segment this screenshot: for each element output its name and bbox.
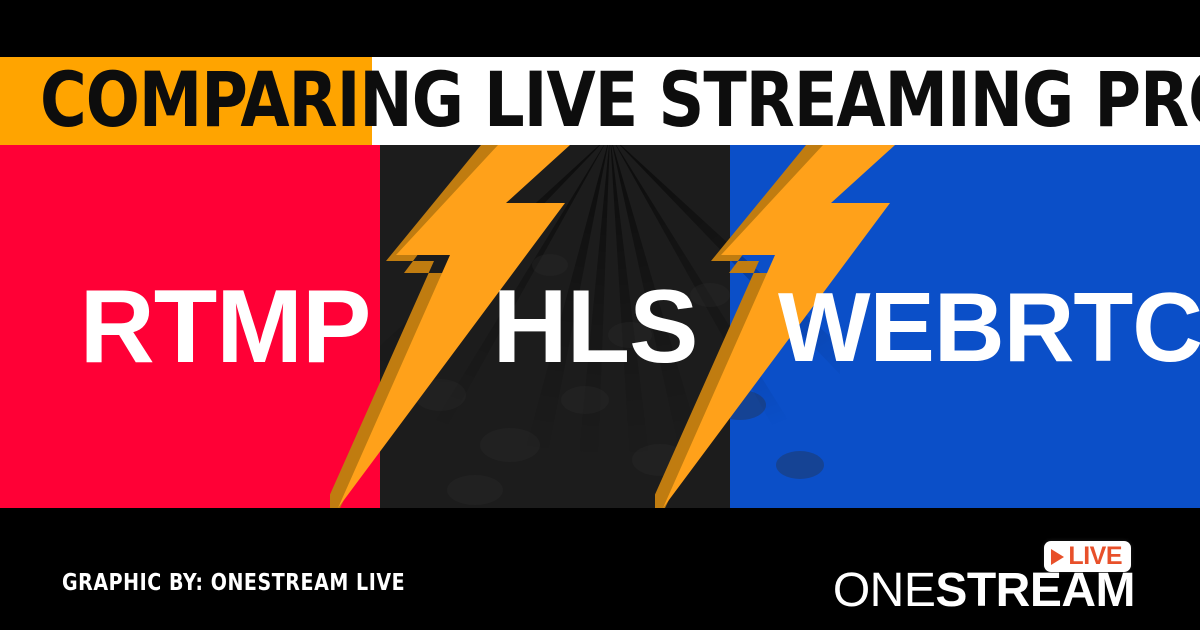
page-title-rest: LIVE STREAMING PROTOCOLS: [484, 55, 1200, 144]
page-title: COMPARING LIVE STREAMING PROTOCOLS: [40, 50, 1119, 155]
protocol-label-hls: HLS: [430, 145, 760, 508]
poster-canvas: COMPARING LIVE STREAMING PROTOCOLS: [0, 0, 1200, 630]
protocol-label-webrtc: WEBRTC: [790, 145, 1190, 508]
credit-text: GRAPHIC BY: ONESTREAM LIVE: [62, 570, 405, 596]
play-triangle-icon: [1051, 549, 1064, 565]
logo-wordmark: ONESTREAM: [833, 567, 1135, 615]
logo-word-one: ONE: [833, 564, 936, 617]
live-badge: LIVE: [1044, 541, 1131, 572]
protocol-name: RTMP: [80, 275, 371, 379]
footer-bar: GRAPHIC BY: ONESTREAM LIVE ONESTREAM LIV…: [0, 508, 1200, 630]
protocol-name: HLS: [493, 275, 698, 379]
top-black-strip: [0, 0, 1200, 57]
live-badge-label: LIVE: [1068, 544, 1122, 569]
page-title-highlight: COMPARING: [40, 55, 463, 144]
protocol-comparison-stage: RTMP HLS WEBRTC: [0, 145, 1200, 508]
protocol-name: WEBRTC: [778, 278, 1200, 376]
protocol-label-rtmp: RTMP: [60, 145, 390, 508]
